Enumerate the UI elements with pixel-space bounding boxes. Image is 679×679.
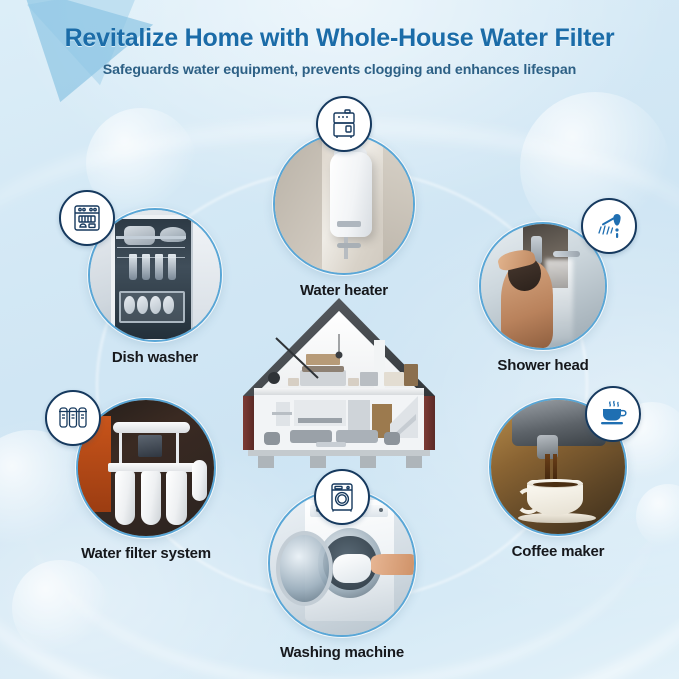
page-subtitle: Safeguards water equipment, prevents clo… [0,62,679,78]
filter-cartridges-icon [45,390,101,446]
node-label-washing-machine: Washing machine [268,644,416,661]
node-shower-head[interactable]: Shower head [479,222,607,374]
dishwasher-icon [59,190,115,246]
coffee-cup-icon [585,386,641,442]
node-dish-washer[interactable]: Dish washer [88,208,222,366]
node-water-filter-system[interactable]: Water filter system [76,398,216,562]
page-title: Revitalize Home with Whole-House Water F… [0,24,679,53]
node-label-dish-washer: Dish washer [88,349,222,366]
washing-machine-icon [314,469,370,525]
shower-head-icon [581,198,637,254]
decorative-bokeh-2 [12,560,108,656]
node-label-water-filter-system: Water filter system [76,545,216,562]
water-heater-photo[interactable] [273,133,415,275]
node-label-water-heater: Water heater [273,282,415,299]
infographic-canvas: Revitalize Home with Whole-House Water F… [0,0,679,679]
cutaway-house-illustration [228,292,450,478]
header: Revitalize Home with Whole-House Water F… [0,24,679,78]
node-label-coffee-maker: Coffee maker [489,543,627,560]
water-heater-icon [316,96,372,152]
node-water-heater[interactable]: Water heater [273,133,415,299]
node-washing-machine[interactable]: Washing machine [268,489,416,661]
node-label-shower-head: Shower head [479,357,607,374]
decorative-bokeh-4 [636,484,679,548]
node-coffee-maker[interactable]: Coffee maker [489,398,627,560]
